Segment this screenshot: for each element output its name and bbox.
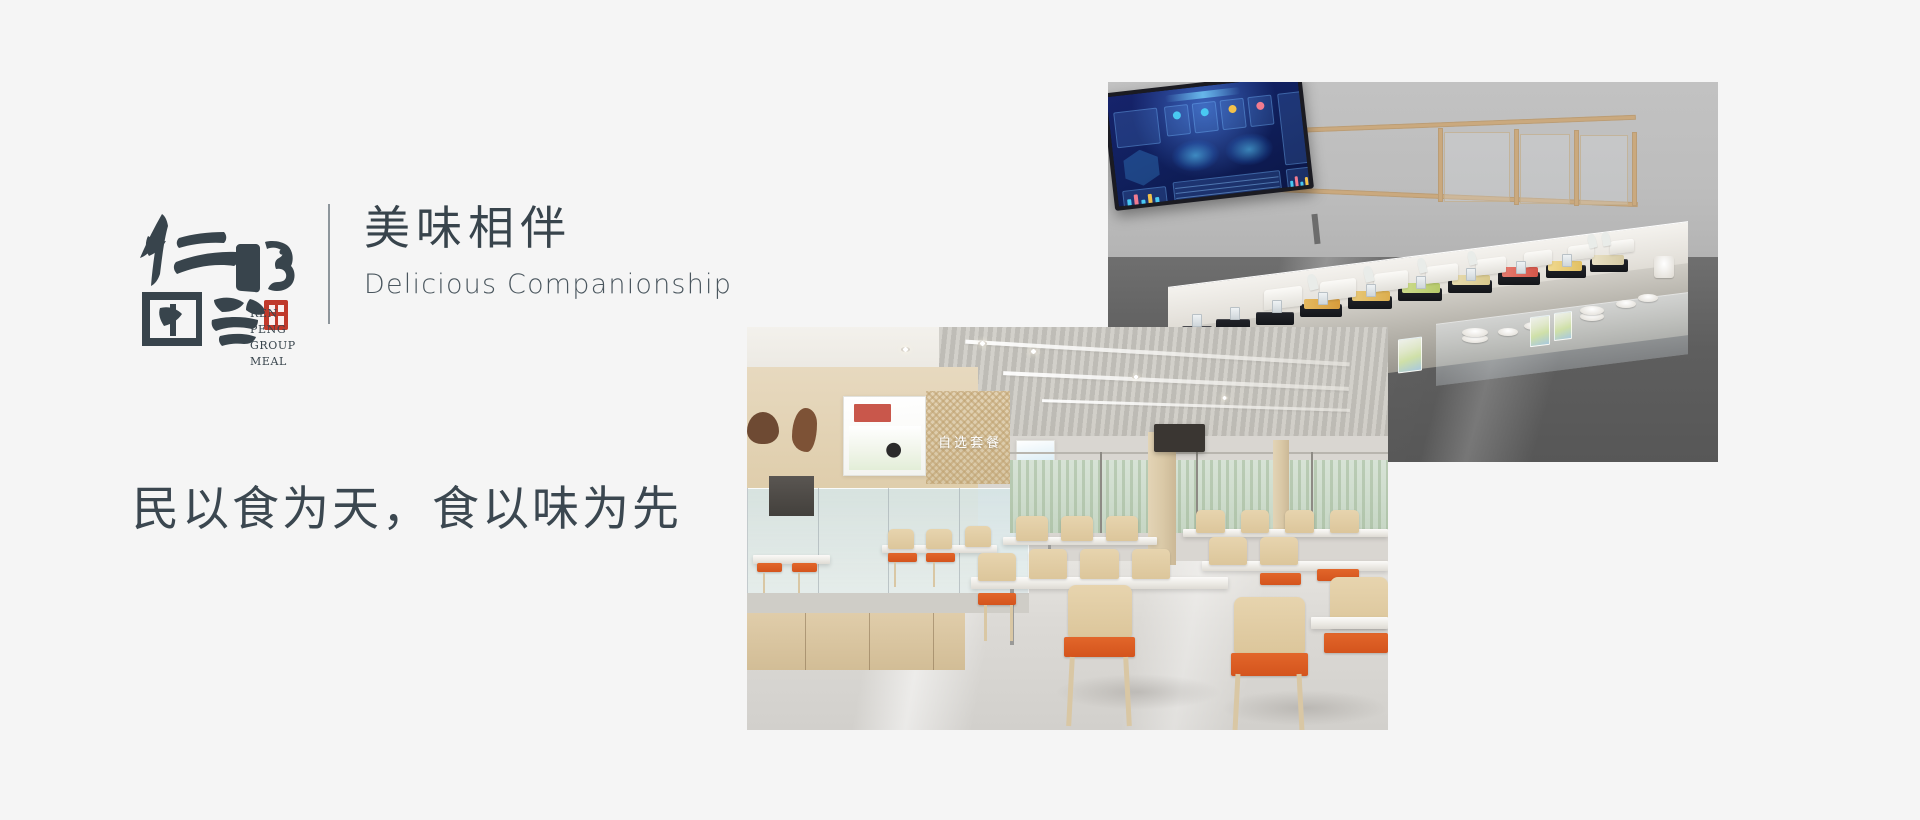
dashboard-screen (1108, 82, 1310, 207)
chair-seat (978, 593, 1016, 605)
counter-art-panel (1398, 337, 1422, 374)
price-tag-display (1272, 300, 1282, 313)
price-tag-display (1416, 276, 1426, 289)
lattice-feature-wall: 自选套餐 (926, 391, 1009, 484)
price-tag-display (1366, 284, 1376, 297)
chair-seat (1260, 573, 1302, 585)
sign-dish-photo (849, 426, 921, 470)
dashboard-monitor (1108, 82, 1314, 211)
food-dish (1592, 255, 1624, 265)
chair-leg (763, 573, 765, 593)
counter-art-panel (1530, 315, 1550, 347)
plate-stack (1638, 294, 1658, 302)
price-tag-display (1466, 268, 1476, 281)
chair-back (926, 529, 952, 549)
dashboard-ring-right (1224, 131, 1275, 168)
chair-back (1132, 549, 1170, 579)
dining-table (1311, 617, 1388, 629)
cup-stack (1654, 256, 1674, 278)
ceiling-downlight (1221, 396, 1228, 400)
servery-glass-2 (1520, 134, 1570, 204)
glass-mullion (747, 488, 748, 609)
brand-en-line-1: REN PENG (250, 306, 302, 338)
cabinet-seam (933, 613, 934, 669)
chair-back (1080, 549, 1118, 579)
chair-seat-foreground (1324, 633, 1388, 653)
plate-stack (1616, 300, 1636, 308)
cabinet-seam (869, 613, 870, 669)
chair-leg (984, 605, 987, 641)
chair-seat (757, 563, 783, 573)
headline-group: 美味相伴 Delicious Companionship (364, 196, 732, 300)
price-tag-display (1230, 307, 1240, 320)
wall-sign-text: 自选套餐 (938, 432, 1002, 451)
chair-back (1061, 516, 1093, 540)
wall-mounted-tv (1154, 424, 1205, 452)
brand-divider (328, 204, 330, 324)
chair-back (1016, 516, 1048, 540)
dashboard-kpi-tile (1192, 101, 1219, 134)
brand-logo-icon: . REN PENG GROUP MEAL (132, 196, 302, 346)
sign-brand-mark (854, 404, 891, 421)
chair-back-foreground (1234, 597, 1305, 653)
headline-chinese: 美味相伴 (364, 202, 732, 255)
cabinet-seam (805, 613, 806, 669)
dashboard-bar (1155, 197, 1160, 205)
photo-dining-hall: 自选套餐 (747, 327, 1388, 730)
brand-en-line-2: GROUP (250, 338, 302, 354)
chair-back (1209, 537, 1247, 565)
chair-back (1260, 537, 1298, 565)
dashboard-kpi-tile (1219, 98, 1246, 131)
servery-post-6 (1632, 132, 1637, 206)
chair-back (1241, 510, 1270, 532)
chair-leg (1010, 605, 1013, 641)
servery-post-3 (1438, 128, 1443, 202)
chair-leg (798, 573, 800, 593)
chair-back (1330, 510, 1359, 532)
counter-art-panel (1554, 311, 1572, 341)
headline-english: Delicious Companionship (364, 269, 732, 300)
chair-back (965, 526, 991, 546)
display-shelf-unit (769, 476, 814, 516)
price-tag-display (1318, 292, 1328, 305)
chair-leg (933, 562, 935, 586)
plate-stack (1462, 328, 1488, 337)
plate-stack (1498, 328, 1518, 336)
chair-seat-foreground (1064, 637, 1135, 657)
chair-seat (926, 553, 955, 563)
dashboard-radar-tile (1120, 148, 1164, 188)
chair-back-foreground (1068, 585, 1132, 637)
dashboard-kpi-tile (1247, 95, 1274, 128)
chair-seat (888, 553, 917, 563)
chair-back (1106, 516, 1138, 540)
servery-glass-3 (1580, 135, 1628, 205)
chair-back (1029, 549, 1067, 579)
dashboard-kpi-tile (1164, 104, 1191, 137)
dashboard-score-tile (1113, 108, 1161, 149)
servery-post-5 (1574, 130, 1579, 206)
chair-leg (894, 562, 896, 586)
chair-back (1285, 510, 1314, 532)
glass-mullion (818, 488, 819, 609)
dashboard-bar (1127, 199, 1132, 208)
brand-lockup: . REN PENG GROUP MEAL 美味相伴 Delicious Com… (132, 196, 732, 346)
ceiling-downlight (978, 341, 987, 346)
chair-seat (792, 563, 818, 573)
price-tag-display (1192, 314, 1202, 327)
brand-en-line-3: MEAL (250, 354, 302, 370)
promo-banner: . REN PENG GROUP MEAL 美味相伴 Delicious Com… (0, 0, 1920, 820)
dashboard-bar (1300, 181, 1304, 188)
price-tag-display (1562, 254, 1572, 267)
chair-shadow (1055, 674, 1222, 710)
servery-post-4 (1514, 129, 1519, 205)
chair-back (888, 529, 914, 549)
menu-lightbox-sign (843, 396, 926, 477)
chair-seat-foreground (1231, 653, 1308, 675)
dashboard-bar (1141, 199, 1146, 206)
food-tray (1256, 312, 1294, 325)
servery-glass-1 (1444, 132, 1510, 202)
window-header (1010, 452, 1388, 454)
plate-stack (1580, 306, 1604, 315)
chair-back (1196, 510, 1225, 532)
dashboard-ring-left (1170, 137, 1221, 174)
chair-back (978, 553, 1016, 581)
window-mullion (1100, 452, 1102, 533)
price-tag-display (1516, 261, 1526, 274)
tagline-text: 民以食为天，食以味为先 (132, 470, 682, 539)
chair-shadow (1221, 690, 1388, 726)
